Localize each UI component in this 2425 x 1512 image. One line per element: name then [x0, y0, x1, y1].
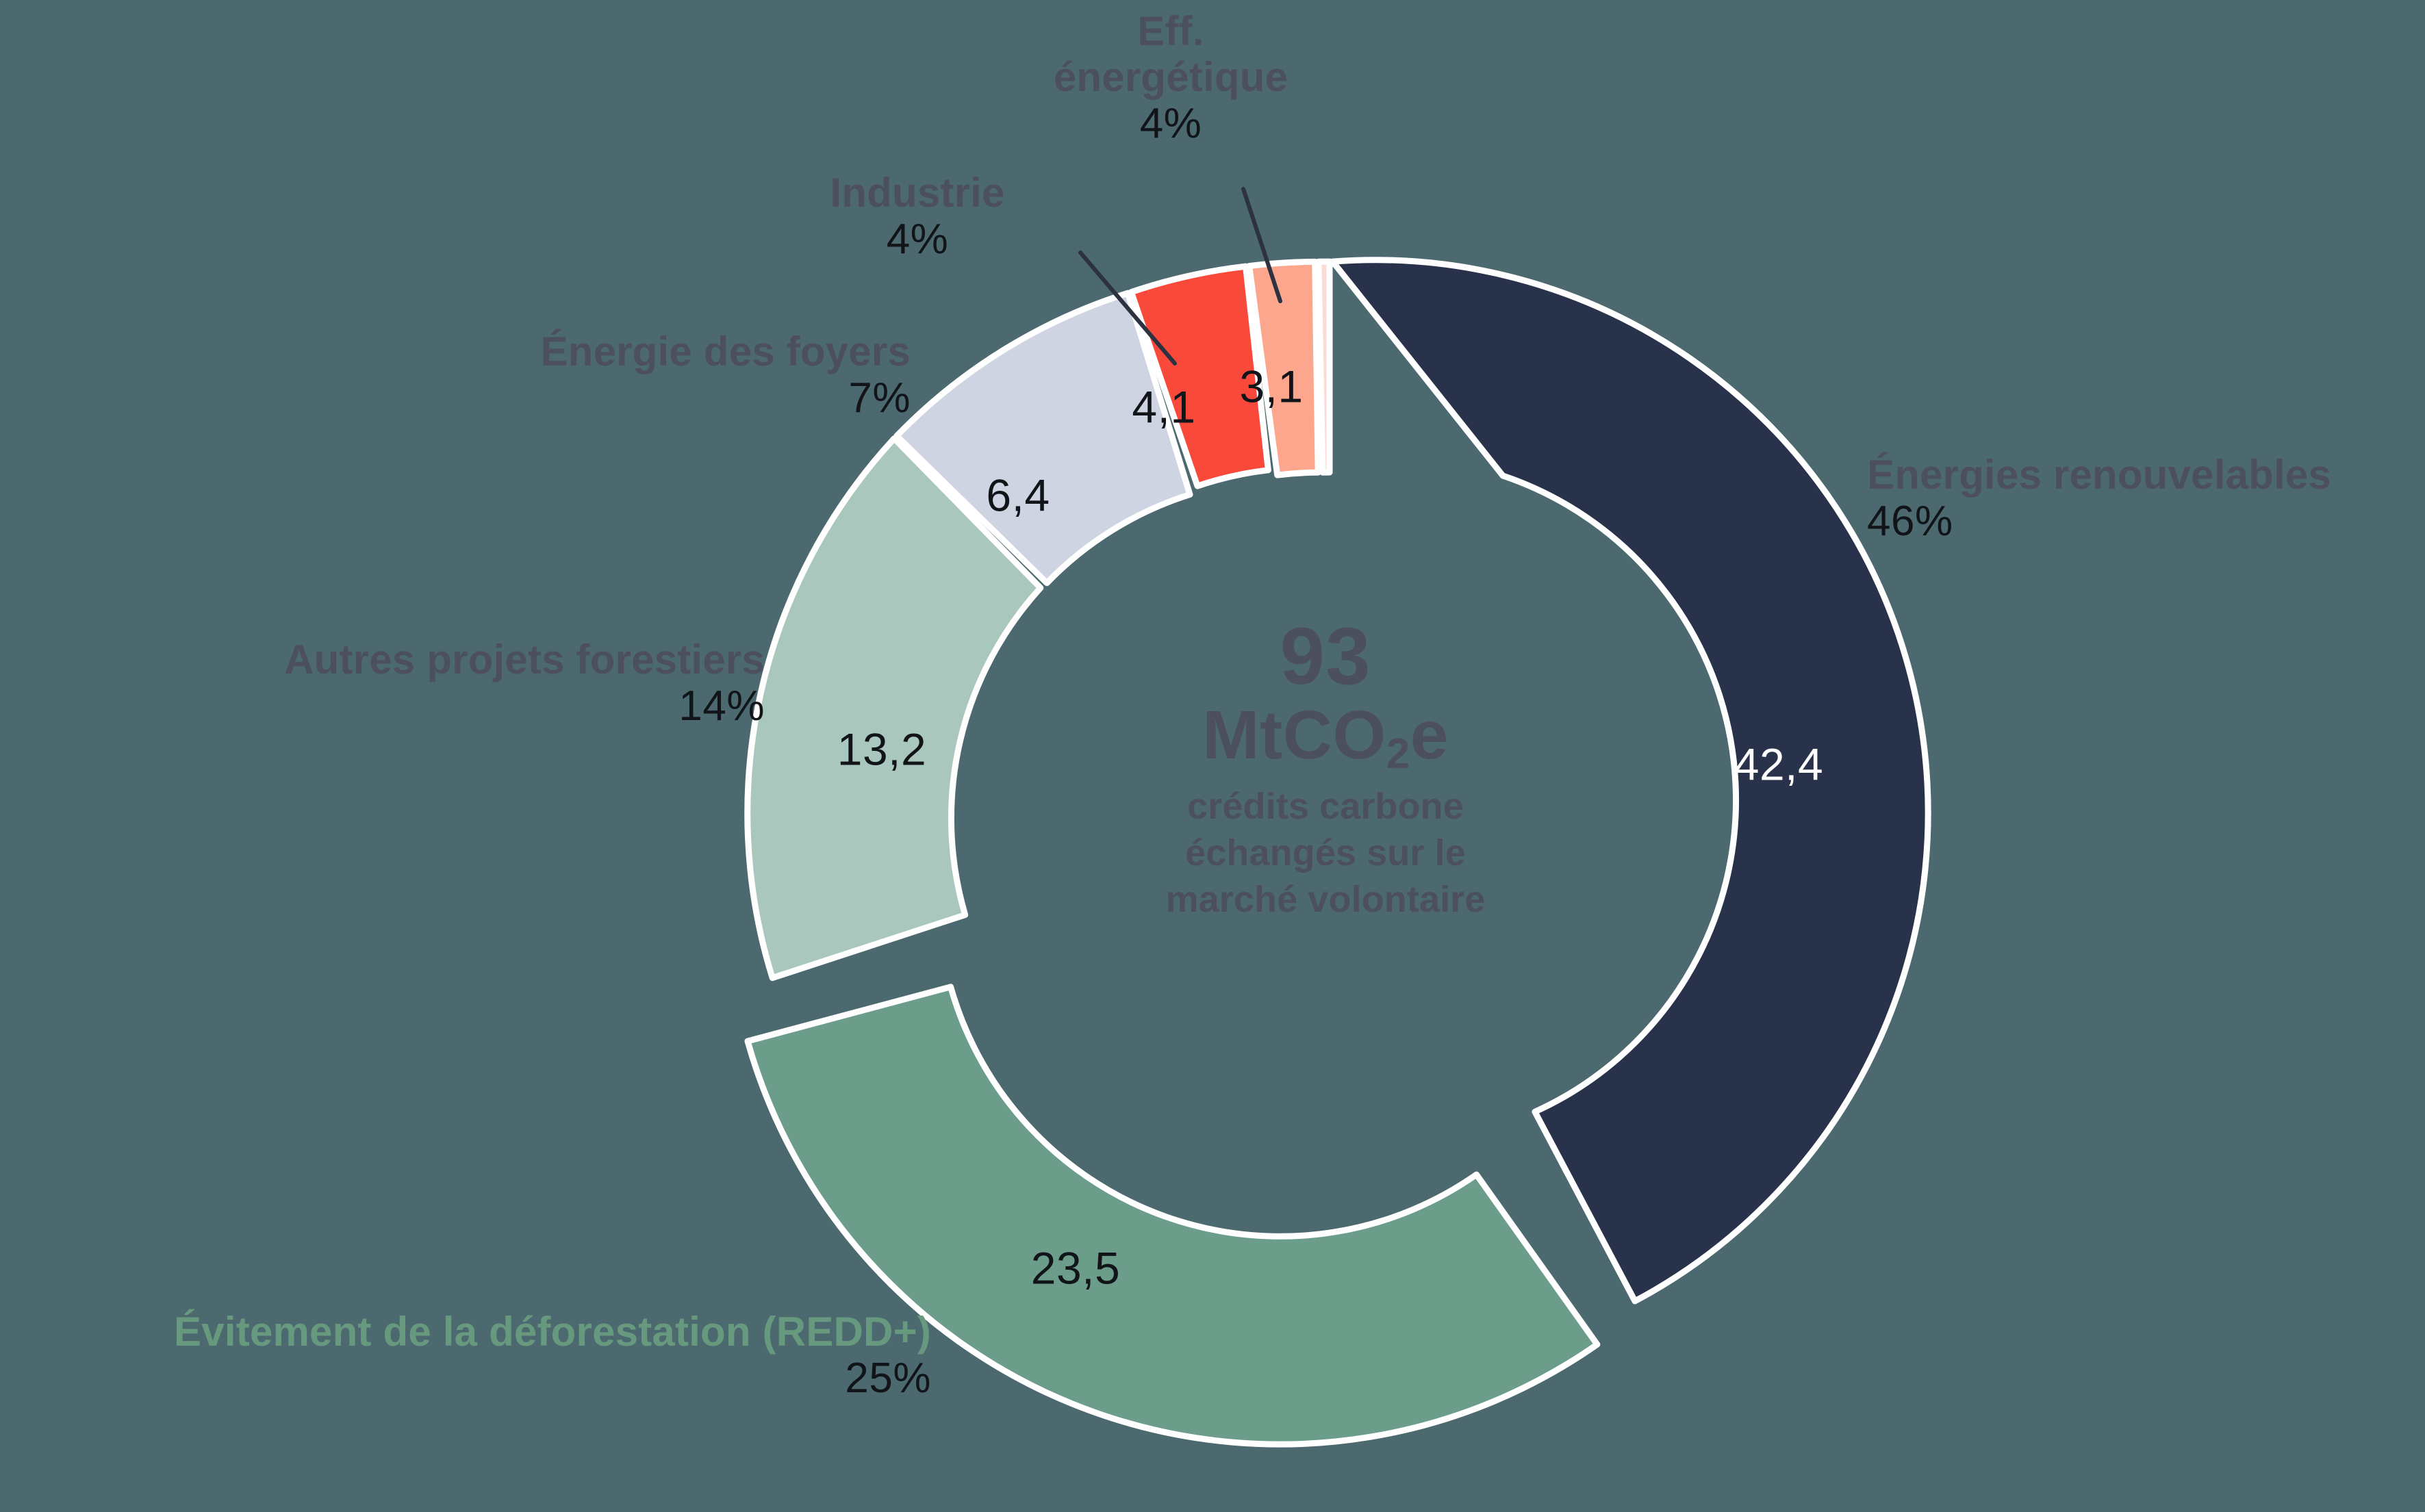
callout-energies-renouvelables[interactable]: Énergies renouvelables 46%	[1867, 452, 2425, 546]
value-label-redd: 23,5	[1031, 1242, 1120, 1293]
value-label-autres-projets-forestiers: 13,2	[837, 723, 926, 774]
center-total-value: 93	[1045, 616, 1606, 697]
callout-eff-energetique[interactable]: Eff. énergétique 4%	[1010, 8, 1332, 148]
callout-energies-renouvelables-percent: 46%	[1867, 498, 2425, 545]
center-unit-subscript: 2	[1386, 730, 1410, 778]
callout-autres-projets-forestiers-label: Autres projets forestiers	[41, 637, 765, 682]
chart-canvas: 42,4 23,5 13,2 6,4 4,1 3,1 Eff. énergéti…	[0, 0, 2425, 1512]
callout-redd-label: Évitement de la déforestation (REDD+)	[0, 1309, 931, 1355]
center-unit: MtCO2e	[1045, 697, 1606, 773]
callout-industrie[interactable]: Industrie 4%	[770, 170, 1065, 264]
value-label-eff-energetique: 3,1	[1239, 361, 1303, 411]
value-label-energie-des-foyers: 6,4	[986, 470, 1050, 520]
donut-center-text: 93 MtCO2e crédits carbone échangés sur l…	[1045, 616, 1606, 923]
callout-autres-projets-forestiers[interactable]: Autres projets forestiers 14%	[41, 637, 765, 730]
callout-redd-percent: 25%	[0, 1355, 931, 1402]
center-description-line-3: marché volontaire	[1045, 876, 1606, 923]
center-unit-prefix: MtCO	[1202, 697, 1386, 773]
callout-energie-des-foyers-percent: 7%	[205, 374, 911, 422]
center-description-line-2: échangés sur le	[1045, 830, 1606, 876]
callout-energies-renouvelables-label: Énergies renouvelables	[1867, 452, 2425, 498]
callout-eff-energetique-line1: Eff.	[1010, 8, 1332, 54]
callout-autres-projets-forestiers-percent: 14%	[41, 682, 765, 730]
center-description: crédits carbone échangés sur le marché v…	[1045, 783, 1606, 923]
callout-eff-energetique-percent: 4%	[1010, 100, 1332, 147]
slice-autre[interactable]	[1319, 261, 1330, 472]
value-label-energies-renouvelables: 42,4	[1734, 739, 1823, 789]
callout-industrie-percent: 4%	[770, 216, 1065, 263]
callout-energie-des-foyers[interactable]: Énergie des foyers 7%	[205, 329, 911, 422]
callout-energie-des-foyers-label: Énergie des foyers	[205, 329, 911, 374]
callout-eff-energetique-line2: énergétique	[1010, 54, 1332, 100]
center-unit-suffix: e	[1410, 697, 1449, 773]
callout-evitement-deforestation-redd[interactable]: Évitement de la déforestation (REDD+) 25…	[0, 1309, 931, 1402]
center-description-line-1: crédits carbone	[1045, 783, 1606, 830]
callout-industrie-label: Industrie	[770, 170, 1065, 216]
value-label-industrie: 4,1	[1132, 381, 1195, 432]
